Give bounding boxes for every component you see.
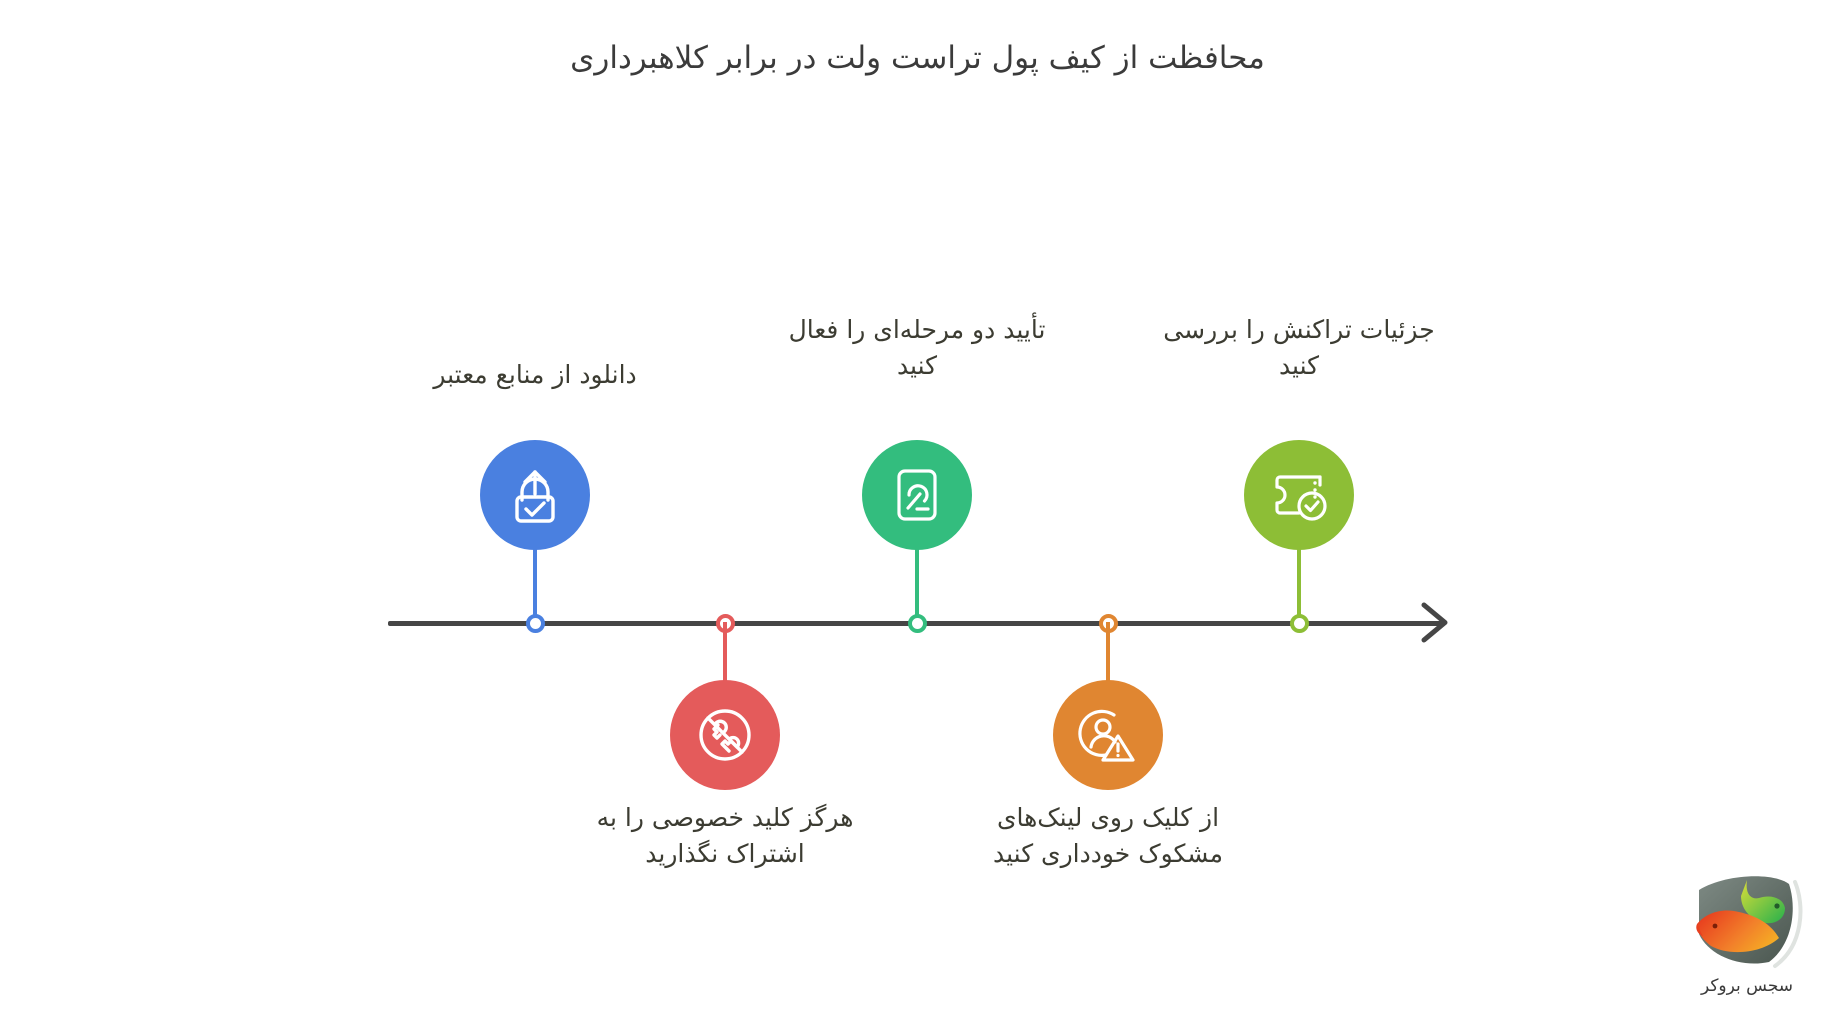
node-bubble-avoid-suspicious-links[interactable] — [1053, 680, 1163, 790]
node-dot-review-transaction-details[interactable] — [1290, 614, 1309, 633]
lock-upload-check-icon — [504, 464, 566, 526]
two-factor-device-icon — [887, 465, 947, 525]
node-label-review-transaction-details: جزئیات تراکنش را بررسی کنید — [1149, 312, 1449, 385]
node-label-enable-two-factor: تأیید دو مرحله‌ای را فعال کنید — [767, 312, 1067, 385]
no-key-icon — [692, 702, 758, 768]
node-dot-enable-two-factor[interactable] — [908, 614, 927, 633]
node-bubble-review-transaction-details[interactable] — [1244, 440, 1354, 550]
logo-mark-icon — [1685, 868, 1809, 974]
timeline-arrow-icon — [1418, 600, 1450, 646]
node-stem-never-share-private-key — [723, 622, 727, 684]
node-label-avoid-suspicious-links: از کلیک روی لینک‌های مشکوک خودداری کنید — [958, 800, 1258, 873]
node-bubble-never-share-private-key[interactable] — [670, 680, 780, 790]
node-stem-review-transaction-details — [1297, 548, 1301, 622]
node-stem-enable-two-factor — [915, 548, 919, 622]
user-warning-icon — [1076, 703, 1140, 767]
logo-text: سجس بروکر — [1672, 976, 1822, 996]
node-label-never-share-private-key: هرگز کلید خصوصی را به اشتراک نگذارید — [575, 800, 875, 873]
node-label-trusted-sources: دانلود از منابع معتبر — [385, 357, 685, 393]
receipt-check-icon — [1267, 465, 1331, 525]
node-dot-trusted-sources[interactable] — [526, 614, 545, 633]
node-stem-trusted-sources — [533, 548, 537, 622]
node-bubble-enable-two-factor[interactable] — [862, 440, 972, 550]
node-stem-avoid-suspicious-links — [1106, 622, 1110, 684]
node-bubble-trusted-sources[interactable] — [480, 440, 590, 550]
page-title: محافظت از کیف پول تراست ولت در برابر کلا… — [0, 38, 1835, 80]
sejas-broker-logo[interactable]: سجس بروکر — [1672, 868, 1822, 1008]
